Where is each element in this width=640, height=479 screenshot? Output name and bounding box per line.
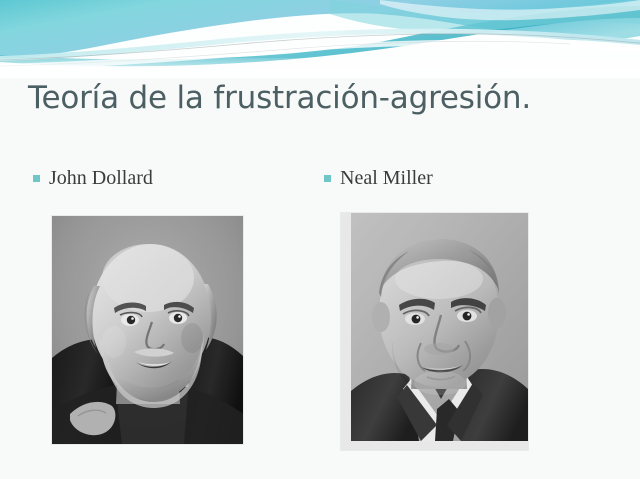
slide-title: Teoría de la frustración-agresión. [28,80,628,116]
bullet-item-label: Neal Miller [340,168,433,188]
bullet-item-john-dollard: John Dollard [33,168,153,188]
bullet-item-label: John Dollard [49,168,153,188]
decorative-wave-banner [0,0,640,78]
bullet-square-icon [33,175,40,182]
wave-graphic [0,0,640,78]
presentation-slide: Teoría de la frustración-agresión. John … [0,0,640,479]
portrait-photo-john-dollard [52,216,243,444]
bullet-square-icon [324,175,331,182]
portrait-illustration [341,213,528,450]
portrait-illustration [52,216,243,444]
portrait-photo-neal-miller [341,213,528,450]
bullet-item-neal-miller: Neal Miller [324,168,433,188]
